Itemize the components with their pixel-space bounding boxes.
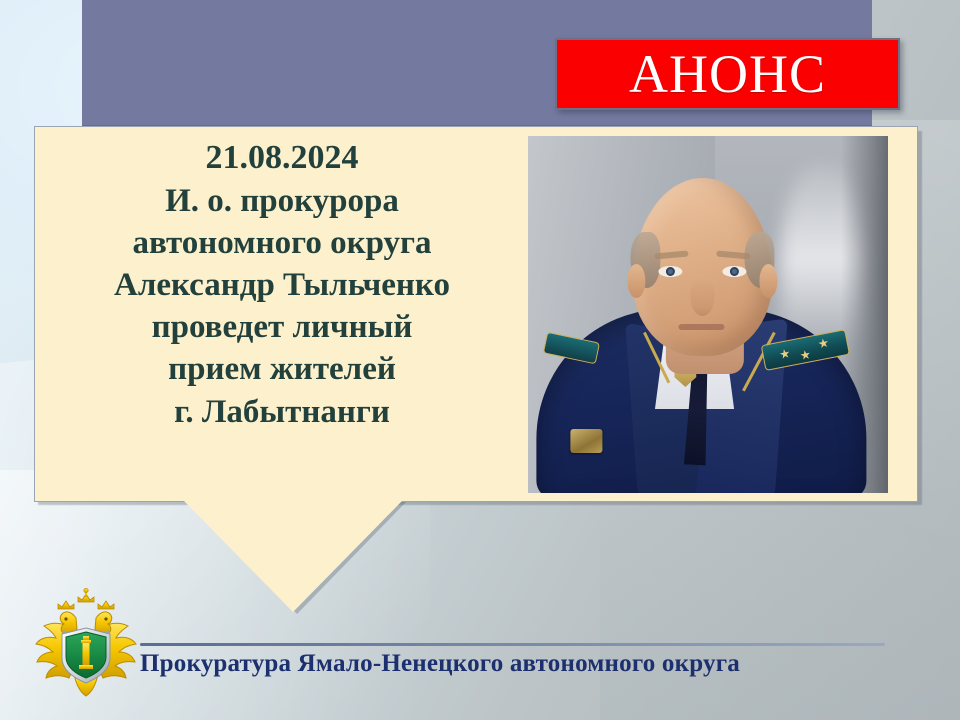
crown-icon (58, 588, 114, 609)
announcement-line-4: проведет личный (152, 306, 413, 348)
portrait-nose (690, 278, 714, 316)
portrait-eye-right (722, 266, 746, 277)
rank-star-icon (800, 349, 812, 361)
announcement-poster: АНОНС 21.08.2024 И. о. прокурора автоном… (0, 0, 960, 720)
portrait-photo (528, 136, 888, 493)
announcement-text-block: 21.08.2024 И. о. прокурора автономного о… (48, 136, 516, 492)
announcement-line-5: прием жителей (168, 348, 396, 390)
footer-organization: Прокуратура Ямало-Ненецкого автономного … (140, 650, 900, 678)
portrait-ear-left (627, 264, 645, 298)
portrait-eye-left (658, 266, 682, 277)
bubble-tail (183, 500, 403, 612)
announce-banner: АНОНС (555, 38, 900, 110)
announcement-line-6: г. Лабытнанги (174, 391, 390, 433)
portrait-ear-right (759, 264, 777, 298)
announcement-date: 21.08.2024 (206, 136, 359, 180)
prosecutor-emblem-icon (30, 588, 142, 700)
rank-star-icon (818, 338, 830, 350)
announcement-line-2: автономного округа (133, 222, 432, 264)
uniform-chest-medal-icon (570, 429, 602, 453)
footer-divider (140, 643, 885, 646)
announcement-line-3: Александр Тыльченко (114, 264, 450, 306)
announcement-line-1: И. о. прокурора (165, 180, 399, 222)
rank-star-icon (779, 348, 791, 360)
portrait-mouth (678, 324, 724, 330)
announce-label: АНОНС (629, 47, 826, 101)
